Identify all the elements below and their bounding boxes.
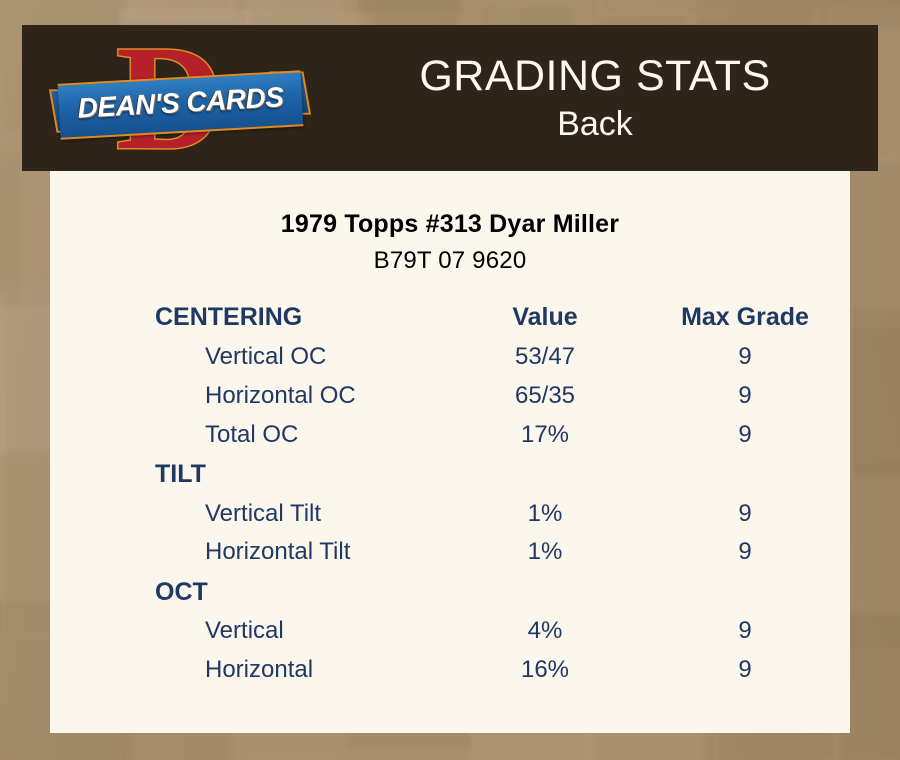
stat-value: 53/47: [450, 338, 640, 377]
section-spacer-cell: [640, 572, 850, 612]
deans-cards-logo: D DEAN'S CARDS: [55, 31, 305, 167]
column-header-centering: CENTERING: [50, 303, 450, 338]
stat-value: 65/35: [450, 377, 640, 416]
stat-max-grade: 9: [640, 651, 850, 690]
stat-value: 1%: [450, 495, 640, 534]
stat-value: 17%: [450, 416, 640, 455]
section-header-row: OCT: [50, 572, 850, 612]
stat-value: 16%: [450, 651, 640, 690]
stat-label: Vertical OC: [50, 338, 450, 377]
stat-value: 1%: [450, 533, 640, 572]
column-header-value: Value: [450, 303, 640, 338]
stat-label: Horizontal: [50, 651, 450, 690]
stat-label: Vertical: [50, 612, 450, 651]
stat-label: Horizontal Tilt: [50, 533, 450, 572]
table-row: Vertical Tilt1%9: [50, 495, 850, 534]
card-serial-number: B79T 07 9620: [50, 247, 850, 275]
stat-max-grade: 9: [640, 377, 850, 416]
table-row: Vertical4%9: [50, 612, 850, 651]
column-header-max-grade: Max Grade: [640, 303, 850, 338]
card-title: 1979 Topps #313 Dyar Miller: [50, 210, 850, 239]
stat-max-grade: 9: [640, 533, 850, 572]
stat-max-grade: 9: [640, 338, 850, 377]
table-row: Total OC17%9: [50, 416, 850, 455]
section-label: TILT: [50, 454, 450, 494]
table-row: Horizontal16%9: [50, 651, 850, 690]
stat-label: Vertical Tilt: [50, 495, 450, 534]
page-title: GRADING STATS: [419, 54, 770, 99]
stat-max-grade: 9: [640, 612, 850, 651]
stat-label: Total OC: [50, 416, 450, 455]
content-panel: 1979 Topps #313 Dyar Miller B79T 07 9620…: [50, 171, 850, 733]
table-row: Vertical OC53/479: [50, 338, 850, 377]
table-head: CENTERING Value Max Grade: [50, 303, 850, 338]
section-spacer-cell: [450, 572, 640, 612]
header-bar: D DEAN'S CARDS GRADING STATS Back: [22, 25, 878, 171]
section-spacer-cell: [640, 454, 850, 494]
header-title-group: GRADING STATS Back: [312, 25, 878, 171]
table-row: Horizontal Tilt1%9: [50, 533, 850, 572]
stat-label: Horizontal OC: [50, 377, 450, 416]
grading-stats-table: CENTERING Value Max Grade Vertical OC53/…: [50, 303, 850, 690]
stat-value: 4%: [450, 612, 640, 651]
table-row: Horizontal OC65/359: [50, 377, 850, 416]
table-body: Vertical OC53/479Horizontal OC65/359Tota…: [50, 338, 850, 690]
table-header-row: CENTERING Value Max Grade: [50, 303, 850, 338]
section-label: OCT: [50, 572, 450, 612]
section-spacer-cell: [450, 454, 640, 494]
stat-max-grade: 9: [640, 416, 850, 455]
stat-max-grade: 9: [640, 495, 850, 534]
page-subtitle: Back: [557, 107, 633, 143]
section-header-row: TILT: [50, 454, 850, 494]
